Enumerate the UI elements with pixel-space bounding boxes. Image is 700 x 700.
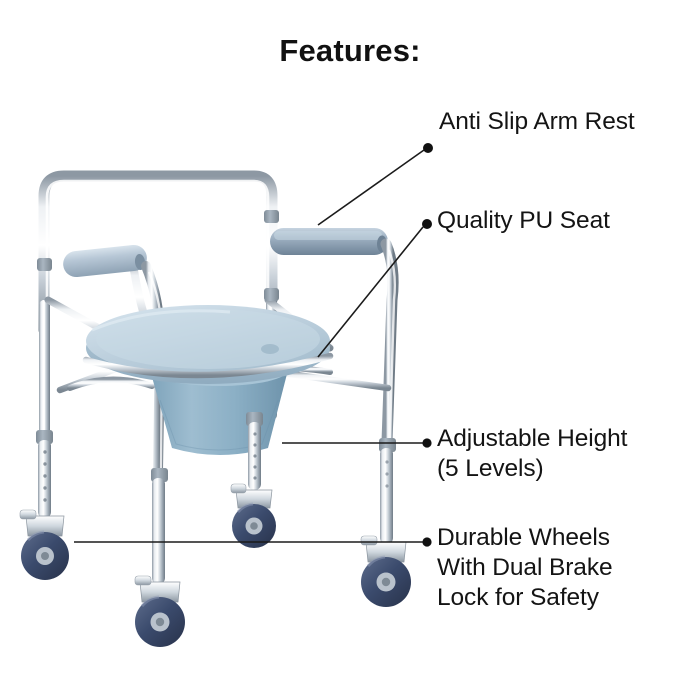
feature-diagram: Features: [0,0,700,700]
caster-front-right [361,536,411,607]
armrest-right [258,228,388,255]
caster-rear-left [20,510,69,580]
front-right-leg [386,244,395,470]
feature-label-anti-slip-arm-rest: Anti Slip Arm Rest [439,107,635,137]
feature-label-quality-pu-seat: Quality PU Seat [437,206,610,236]
feature-label-adjustable-height: Adjustable Height (5 Levels) [437,424,627,484]
caster-front-left [135,576,185,647]
feature-label-durable-wheels: Durable Wheels With Dual Brake Lock for … [437,523,613,613]
caster-rear-right [231,484,276,548]
caster-wheels [20,484,411,647]
